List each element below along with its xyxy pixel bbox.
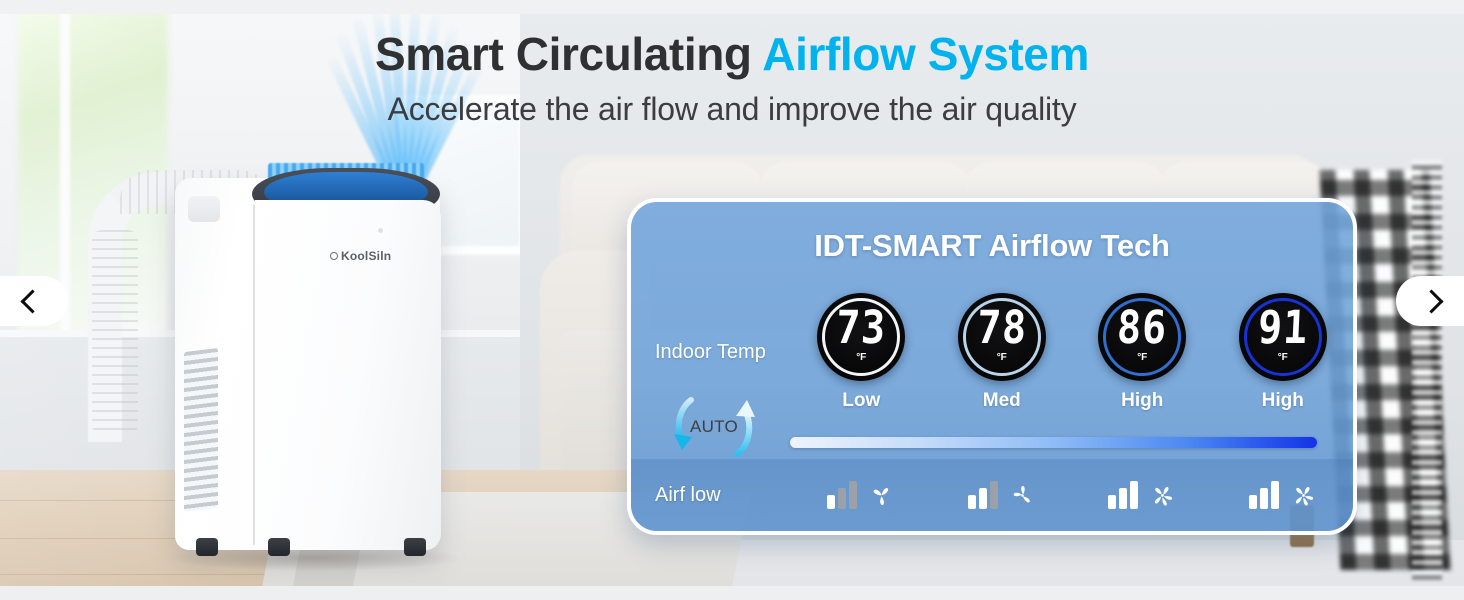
temp-unit: °F xyxy=(856,353,866,363)
fan-3-blade-icon xyxy=(1009,482,1036,509)
top-edge xyxy=(0,0,1464,14)
signal-bar xyxy=(1260,488,1268,509)
ac-caster xyxy=(268,538,290,556)
airflow-level-3[interactable] xyxy=(1088,481,1196,509)
temp-value: 91 xyxy=(1257,307,1309,348)
signal-bar xyxy=(1271,481,1279,509)
signal-bar xyxy=(1108,495,1116,509)
indoor-temp-label: Indoor Temp xyxy=(631,341,791,364)
exhaust-hose-ribs xyxy=(92,230,138,435)
temp-dial-4[interactable]: 91 °F High xyxy=(1229,293,1337,412)
brand-mark-icon xyxy=(330,252,338,260)
temp-dial-label: High xyxy=(1088,390,1196,412)
temp-dial-label: Low xyxy=(807,390,915,412)
signal-bars xyxy=(1249,481,1279,509)
page-subtitle: Accelerate the air flow and improve the … xyxy=(0,91,1464,128)
airflow-label: Airf low xyxy=(631,484,791,507)
airflow-intensity-bar[interactable] xyxy=(790,437,1317,448)
signal-bar xyxy=(990,481,998,509)
airflow-row: Airf low xyxy=(631,459,1353,531)
title-accent: Airflow System xyxy=(762,28,1089,80)
temp-value: 73 xyxy=(835,307,887,348)
signal-bar xyxy=(827,495,835,509)
signal-bar xyxy=(1119,488,1127,509)
airflow-level-4[interactable] xyxy=(1229,481,1337,509)
temp-dial-face: 73 °F xyxy=(817,293,905,381)
temp-dial-label: Med xyxy=(948,390,1056,412)
ac-side-vent-grille xyxy=(184,348,218,512)
signal-bars xyxy=(968,481,998,509)
temp-dial-face: 86 °F xyxy=(1098,293,1186,381)
airflow-level-2[interactable] xyxy=(948,481,1056,509)
brand-name: KoolSiln xyxy=(341,249,391,263)
signal-bar xyxy=(1249,495,1257,509)
title-main: Smart Circulating xyxy=(375,28,762,80)
airflow-level-1[interactable] xyxy=(807,481,915,509)
carousel-prev-button[interactable] xyxy=(0,276,68,326)
bottom-edge xyxy=(0,586,1464,600)
temp-dial-label: High xyxy=(1229,390,1337,412)
page-title: Smart Circulating Airflow System xyxy=(0,30,1464,79)
signal-bar xyxy=(968,495,976,509)
promo-banner: KoolSiln Smart Circulating Airflow Syste… xyxy=(0,0,1464,600)
signal-bar xyxy=(849,481,857,509)
temp-value: 86 xyxy=(1116,307,1168,348)
ac-caster xyxy=(404,538,426,556)
temp-dial-2[interactable]: 78 °F Med xyxy=(948,293,1056,412)
temp-dial-1[interactable]: 73 °F Low xyxy=(807,293,915,412)
temp-unit: °F xyxy=(997,353,1007,363)
brand-logo: KoolSiln xyxy=(330,249,391,263)
ac-caster xyxy=(196,538,218,556)
auto-mode-indicator[interactable]: AUTO xyxy=(662,390,766,464)
signal-bars xyxy=(827,481,857,509)
airflow-tech-panel: IDT-SMART Airflow Tech Indoor Temp 73 °F… xyxy=(627,198,1357,535)
ac-indicator-led xyxy=(378,228,383,233)
fan-5-blade-icon xyxy=(1149,482,1176,509)
signal-bar xyxy=(1130,481,1138,509)
temp-dial-face: 91 °F xyxy=(1239,293,1327,381)
temp-unit: °F xyxy=(1278,353,1288,363)
temp-unit: °F xyxy=(1137,353,1147,363)
headline-block: Smart Circulating Airflow System Acceler… xyxy=(0,30,1464,128)
fan-5-blade-icon xyxy=(1290,482,1317,509)
signal-bar xyxy=(838,488,846,509)
fan-3-blade-icon xyxy=(868,482,895,509)
auto-label: AUTO xyxy=(662,390,766,464)
temp-dial-face: 78 °F xyxy=(958,293,1046,381)
temp-value: 78 xyxy=(976,307,1028,348)
chevron-right-icon xyxy=(1419,289,1443,313)
carousel-next-button[interactable] xyxy=(1396,276,1464,326)
temperature-dials: 73 °F Low 78 °F Med 86 °F xyxy=(791,293,1353,412)
chevron-left-icon xyxy=(20,289,44,313)
temp-dial-3[interactable]: 86 °F High xyxy=(1088,293,1196,412)
ac-panel-seam xyxy=(253,205,255,545)
signal-bars xyxy=(1108,481,1138,509)
ac-handle-notch xyxy=(188,196,220,222)
airflow-level-groups xyxy=(791,481,1353,509)
panel-title: IDT-SMART Airflow Tech xyxy=(631,228,1353,264)
signal-bar xyxy=(979,488,987,509)
